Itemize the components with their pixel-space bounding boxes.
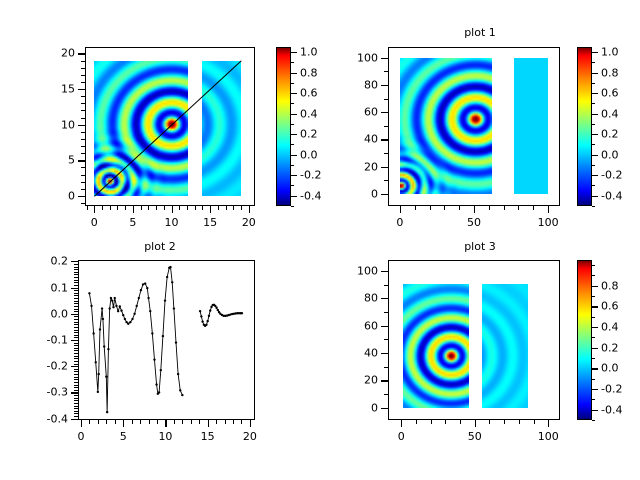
y-tick-label: 60 — [322, 106, 378, 119]
colorbar-tick-label: 0.6 — [601, 300, 619, 313]
x-major-tick — [210, 206, 211, 213]
data-point — [112, 306, 114, 308]
data-point — [149, 310, 151, 312]
y-major-tick — [71, 340, 78, 341]
y-minor-tick — [384, 180, 388, 181]
y-tick-label: -0.2 — [12, 360, 68, 373]
colorbar-minor-tick — [592, 337, 595, 338]
data-point — [111, 299, 113, 301]
y-major-tick — [71, 261, 78, 262]
colorbar-minor-tick — [291, 83, 294, 84]
y-major-tick — [381, 167, 388, 168]
y-major-tick — [71, 392, 78, 393]
x-minor-tick — [202, 206, 203, 210]
data-point — [136, 305, 138, 307]
colorbar-tick-label: -0.4 — [300, 189, 321, 202]
data-point — [175, 341, 177, 343]
x-minor-tick — [489, 420, 490, 424]
colorbar-gradient — [277, 48, 290, 205]
y-major-tick — [381, 408, 388, 409]
data-point — [146, 287, 148, 289]
y-tick-label: 20 — [322, 160, 378, 173]
data-point — [209, 309, 211, 311]
x-major-tick — [400, 206, 401, 213]
heatmap-patch-left — [400, 58, 492, 194]
data-point — [181, 394, 183, 396]
x-minor-tick — [519, 420, 520, 424]
x-minor-tick — [444, 206, 445, 210]
colorbar-major-tick — [592, 368, 598, 369]
panel-top-left: 0510152005101520 -0.4-0.20.00.20.40.60.8… — [0, 0, 320, 240]
y-tick-label: -0.1 — [12, 334, 68, 347]
data-point — [106, 411, 108, 413]
data-point — [205, 324, 207, 326]
x-minor-tick — [164, 206, 165, 210]
colorbar-minor-tick — [592, 103, 595, 104]
data-point — [217, 309, 219, 311]
x-minor-tick — [125, 206, 126, 210]
colorbar-major-tick — [291, 134, 297, 135]
data-point — [108, 307, 110, 309]
x-major-tick — [475, 420, 476, 427]
x-tick-label: 100 — [538, 430, 559, 443]
x-minor-tick — [191, 420, 192, 424]
panel-bottom-left: plot 2 05101520-0.4-0.3-0.2-0.10.00.10.2 — [0, 240, 320, 480]
colorbar-minor-tick — [291, 144, 294, 145]
y-major-tick — [71, 288, 78, 289]
y-minor-tick — [81, 61, 85, 62]
y-tick-label: 20 — [322, 374, 378, 387]
heatmap-patch-right — [202, 61, 241, 196]
data-point — [92, 332, 94, 334]
x-major-tick — [401, 420, 402, 427]
colorbar-major-tick — [592, 327, 598, 328]
y-tick-label: 40 — [322, 133, 378, 146]
x-minor-tick — [415, 206, 416, 210]
x-minor-tick — [182, 420, 183, 424]
data-point — [110, 297, 112, 299]
colorbar-minor-tick — [291, 206, 294, 207]
x-minor-tick — [106, 420, 107, 424]
y-tick-label: 0.2 — [12, 255, 68, 268]
figure-canvas: 0510152005101520 -0.4-0.20.00.20.40.60.8… — [0, 0, 640, 480]
x-major-tick — [133, 206, 134, 213]
y-major-tick — [78, 125, 85, 126]
data-point — [119, 305, 121, 307]
x-minor-tick — [518, 206, 519, 210]
heatmap-patch-left — [94, 61, 188, 196]
x-minor-tick — [117, 206, 118, 210]
x-minor-tick — [174, 420, 175, 424]
colorbar-major-tick — [592, 175, 598, 176]
x-tick-label: 15 — [203, 216, 217, 229]
x-minor-tick — [102, 206, 103, 210]
x-tick-label: 0 — [398, 430, 405, 443]
data-point — [142, 283, 144, 285]
colorbar-minor-tick — [592, 379, 595, 380]
y-minor-tick — [81, 139, 85, 140]
y-tick-label: 80 — [322, 79, 378, 92]
colorbar-tick-label: 0.0 — [601, 148, 619, 161]
panel-bottom-right: plot 3 050100020406080100 -0.4-0.20.00.2… — [320, 240, 640, 480]
data-point — [199, 310, 201, 312]
x-minor-tick — [132, 420, 133, 424]
colorbar-minor-tick — [291, 185, 294, 186]
data-point — [105, 376, 107, 378]
colorbar-top-left — [276, 47, 291, 206]
x-major-tick — [250, 420, 251, 427]
x-minor-tick — [233, 420, 234, 424]
x-tick-label: 20 — [242, 216, 256, 229]
y-tick-label: 40 — [322, 346, 378, 359]
y-tick-label: 0.1 — [12, 281, 68, 294]
colorbar-major-tick — [291, 114, 297, 115]
x-major-tick — [474, 206, 475, 213]
x-minor-tick — [430, 206, 431, 210]
colorbar-minor-tick — [291, 103, 294, 104]
x-minor-tick — [98, 420, 99, 424]
y-minor-tick — [81, 118, 85, 119]
data-point — [153, 358, 155, 360]
x-minor-tick — [216, 420, 217, 424]
colorbar-tick-label: -0.4 — [601, 403, 622, 416]
data-point — [127, 323, 129, 325]
colorbar-major-tick — [592, 114, 598, 115]
y-tick-label: 10 — [19, 118, 75, 131]
y-tick-label: 100 — [322, 51, 378, 64]
x-minor-tick — [504, 206, 505, 210]
y-tick-label: 60 — [322, 319, 378, 332]
x-tick-label: 5 — [120, 430, 127, 443]
x-minor-tick — [233, 206, 234, 210]
y-minor-tick — [81, 153, 85, 154]
x-tick-label: 0 — [91, 216, 98, 229]
colorbar-minor-tick — [592, 185, 595, 186]
y-minor-tick — [81, 132, 85, 133]
colorbar-tick-label: 0.2 — [300, 128, 318, 141]
data-point — [133, 313, 135, 315]
colorbar-tick-label: 0.8 — [601, 66, 619, 79]
heatmap-patch-right — [514, 58, 548, 194]
heatmap-patch-right — [482, 284, 528, 408]
colorbar-major-tick — [592, 306, 598, 307]
data-point — [162, 335, 164, 337]
data-point — [164, 299, 166, 301]
colorbar-major-tick — [592, 52, 598, 53]
data-point — [151, 332, 153, 334]
x-minor-tick — [115, 420, 116, 424]
colorbar-minor-tick — [592, 144, 595, 145]
colorbar-minor-tick — [592, 399, 595, 400]
data-point — [117, 310, 119, 312]
x-major-tick — [548, 420, 549, 427]
x-minor-tick — [416, 420, 417, 424]
colorbar-minor-tick — [592, 296, 595, 297]
x-minor-tick — [110, 206, 111, 210]
data-point — [115, 305, 117, 307]
x-minor-tick — [218, 206, 219, 210]
x-minor-tick — [241, 206, 242, 210]
colorbar-tick-label: 0.4 — [601, 107, 619, 120]
data-point — [102, 318, 104, 320]
y-minor-tick — [81, 167, 85, 168]
data-point — [120, 309, 122, 311]
y-tick-label: 80 — [322, 292, 378, 305]
colorbar-minor-tick — [592, 265, 595, 266]
colorbar-major-tick — [592, 73, 598, 74]
colorbar-gradient — [578, 48, 591, 205]
data-point — [138, 297, 140, 299]
y-tick-label: 0 — [322, 401, 378, 414]
x-tick-label: 10 — [158, 430, 172, 443]
data-point — [131, 318, 133, 320]
colorbar-tick-label: 1.0 — [601, 46, 619, 59]
x-major-tick — [249, 206, 250, 213]
data-point — [103, 345, 105, 347]
y-tick-label: 20 — [19, 47, 75, 60]
colorbar-minor-tick — [592, 420, 595, 421]
y-major-tick — [381, 139, 388, 140]
data-point — [160, 369, 162, 371]
data-point — [124, 318, 126, 320]
y-minor-tick — [384, 285, 388, 286]
data-point — [169, 266, 171, 268]
x-minor-tick — [226, 206, 227, 210]
x-minor-tick — [148, 206, 149, 210]
data-point — [95, 361, 97, 363]
y-minor-tick — [81, 203, 85, 204]
data-point — [99, 328, 101, 330]
colorbar-tick-label: 0.8 — [601, 279, 619, 292]
colorbar-major-tick — [291, 52, 297, 53]
y-tick-label: 5 — [19, 154, 75, 167]
x-tick-label: 0 — [77, 430, 84, 443]
y-minor-tick — [384, 394, 388, 395]
panel-top-right-title: plot 1 — [320, 26, 640, 39]
x-minor-tick — [89, 420, 90, 424]
x-major-tick — [208, 420, 209, 427]
x-minor-tick — [459, 206, 460, 210]
colorbar-major-tick — [291, 73, 297, 74]
x-minor-tick — [195, 206, 196, 210]
colorbar-major-tick — [291, 93, 297, 94]
colorbar-minor-tick — [592, 206, 595, 207]
x-tick-label: 10 — [165, 216, 179, 229]
data-point — [166, 276, 168, 278]
colorbar-minor-tick — [592, 83, 595, 84]
colorbar-major-tick — [291, 175, 297, 176]
data-point — [88, 292, 90, 294]
data-point — [97, 391, 99, 393]
y-major-tick — [78, 53, 85, 54]
x-minor-tick — [179, 206, 180, 210]
y-minor-tick — [384, 339, 388, 340]
colorbar-major-tick — [592, 286, 598, 287]
colorbar-tick-label: -0.4 — [601, 189, 622, 202]
y-minor-tick — [81, 68, 85, 69]
y-minor-tick — [384, 126, 388, 127]
colorbar-tick-label: -0.2 — [601, 383, 622, 396]
colorbar-tick-label: -0.2 — [300, 169, 321, 182]
line-path-segment-a — [89, 267, 182, 412]
colorbar-tick-label: 0.4 — [601, 321, 619, 334]
y-major-tick — [381, 326, 388, 327]
data-point — [206, 320, 208, 322]
line-series-group — [78, 260, 255, 420]
data-point — [179, 389, 181, 391]
x-minor-tick — [445, 420, 446, 424]
y-major-tick — [71, 419, 78, 420]
colorbar-major-tick — [592, 410, 598, 411]
y-minor-tick — [81, 175, 85, 176]
y-minor-tick — [81, 103, 85, 104]
x-minor-tick — [149, 420, 150, 424]
x-minor-tick — [241, 420, 242, 424]
data-point — [147, 297, 149, 299]
colorbar-major-tick — [291, 196, 297, 197]
data-point — [171, 281, 173, 283]
y-minor-tick — [384, 367, 388, 368]
colorbar-tick-label: 0.4 — [300, 107, 318, 120]
data-point — [173, 307, 175, 309]
x-major-tick — [165, 420, 166, 427]
x-minor-tick — [140, 420, 141, 424]
colorbar-major-tick — [592, 196, 598, 197]
y-major-tick — [381, 271, 388, 272]
colorbar-tick-label: 0.6 — [300, 87, 318, 100]
y-major-tick — [381, 85, 388, 86]
y-major-tick — [78, 89, 85, 90]
colorbar-tick-label: 0.2 — [601, 341, 619, 354]
colorbar-minor-tick — [592, 165, 595, 166]
data-point — [90, 305, 92, 307]
y-minor-tick — [81, 82, 85, 83]
colorbar-plot-3 — [577, 260, 592, 420]
data-point — [144, 282, 146, 284]
data-point — [241, 312, 243, 314]
colorbar-tick-label: 0.6 — [601, 87, 619, 100]
y-minor-tick — [81, 189, 85, 190]
colorbar-plot-1 — [577, 47, 592, 206]
colorbar-minor-tick — [592, 62, 595, 63]
x-minor-tick — [225, 420, 226, 424]
x-minor-tick — [534, 420, 535, 424]
colorbar-minor-tick — [592, 358, 595, 359]
y-tick-label: -0.3 — [12, 386, 68, 399]
data-point — [155, 383, 157, 385]
colorbar-minor-tick — [291, 124, 294, 125]
y-minor-tick — [384, 312, 388, 313]
y-minor-tick — [81, 146, 85, 147]
x-minor-tick — [199, 420, 200, 424]
y-major-tick — [381, 298, 388, 299]
colorbar-major-tick — [592, 134, 598, 135]
x-minor-tick — [87, 206, 88, 210]
panel-plot-3-title: plot 3 — [320, 240, 640, 253]
y-major-tick — [381, 58, 388, 59]
x-minor-tick — [431, 420, 432, 424]
x-tick-label: 0 — [396, 216, 403, 229]
x-tick-label: 50 — [468, 430, 482, 443]
data-point — [200, 315, 202, 317]
data-point — [177, 373, 179, 375]
colorbar-gradient — [578, 261, 591, 419]
y-minor-tick — [384, 153, 388, 154]
x-major-tick — [123, 420, 124, 427]
colorbar-minor-tick — [291, 62, 294, 63]
colorbar-major-tick — [592, 348, 598, 349]
y-major-tick — [71, 314, 78, 315]
colorbar-minor-tick — [291, 165, 294, 166]
x-tick-label: 5 — [129, 216, 136, 229]
y-major-tick — [381, 380, 388, 381]
colorbar-tick-label: 0.0 — [601, 362, 619, 375]
data-point — [107, 348, 109, 350]
data-point — [201, 320, 203, 322]
x-major-tick — [172, 206, 173, 213]
y-minor-tick — [81, 75, 85, 76]
x-major-tick — [81, 420, 82, 427]
data-point — [122, 314, 124, 316]
x-minor-tick — [533, 206, 534, 210]
y-major-tick — [381, 194, 388, 195]
data-point — [101, 307, 103, 309]
x-minor-tick — [141, 206, 142, 210]
y-major-tick — [78, 196, 85, 197]
x-minor-tick — [187, 206, 188, 210]
y-minor-tick — [81, 182, 85, 183]
data-point — [208, 315, 210, 317]
x-tick-label: 15 — [201, 430, 215, 443]
data-point — [114, 297, 116, 299]
y-tick-label: 0 — [19, 190, 75, 203]
data-point — [215, 307, 217, 309]
x-minor-tick — [156, 206, 157, 210]
x-minor-tick — [460, 420, 461, 424]
data-point — [158, 391, 160, 393]
x-tick-label: 100 — [538, 216, 559, 229]
y-minor-tick — [81, 96, 85, 97]
y-tick-label: 100 — [322, 264, 378, 277]
heatmap-patch-left — [403, 284, 469, 408]
y-tick-label: -0.4 — [12, 412, 68, 425]
colorbar-tick-label: 0.8 — [300, 66, 318, 79]
x-minor-tick — [157, 420, 158, 424]
colorbar-major-tick — [592, 93, 598, 94]
x-major-tick — [94, 206, 95, 213]
panel-top-right: plot 1 050100020406080100 -0.4-0.20.00.2… — [320, 0, 640, 240]
y-tick-label: 0.0 — [12, 307, 68, 320]
colorbar-minor-tick — [592, 275, 595, 276]
y-major-tick — [381, 353, 388, 354]
x-major-tick — [548, 206, 549, 213]
x-tick-label: 20 — [243, 430, 257, 443]
colorbar-tick-label: 0.0 — [300, 148, 318, 161]
y-minor-tick — [81, 110, 85, 111]
data-point — [140, 289, 142, 291]
colorbar-major-tick — [592, 155, 598, 156]
y-major-tick — [381, 112, 388, 113]
data-point — [129, 321, 131, 323]
colorbar-tick-label: 1.0 — [300, 46, 318, 59]
colorbar-major-tick — [592, 389, 598, 390]
y-minor-tick — [384, 71, 388, 72]
colorbar-tick-label: 0.2 — [601, 128, 619, 141]
x-tick-label: 50 — [467, 216, 481, 229]
colorbar-minor-tick — [592, 124, 595, 125]
y-major-tick — [71, 366, 78, 367]
x-minor-tick — [504, 420, 505, 424]
